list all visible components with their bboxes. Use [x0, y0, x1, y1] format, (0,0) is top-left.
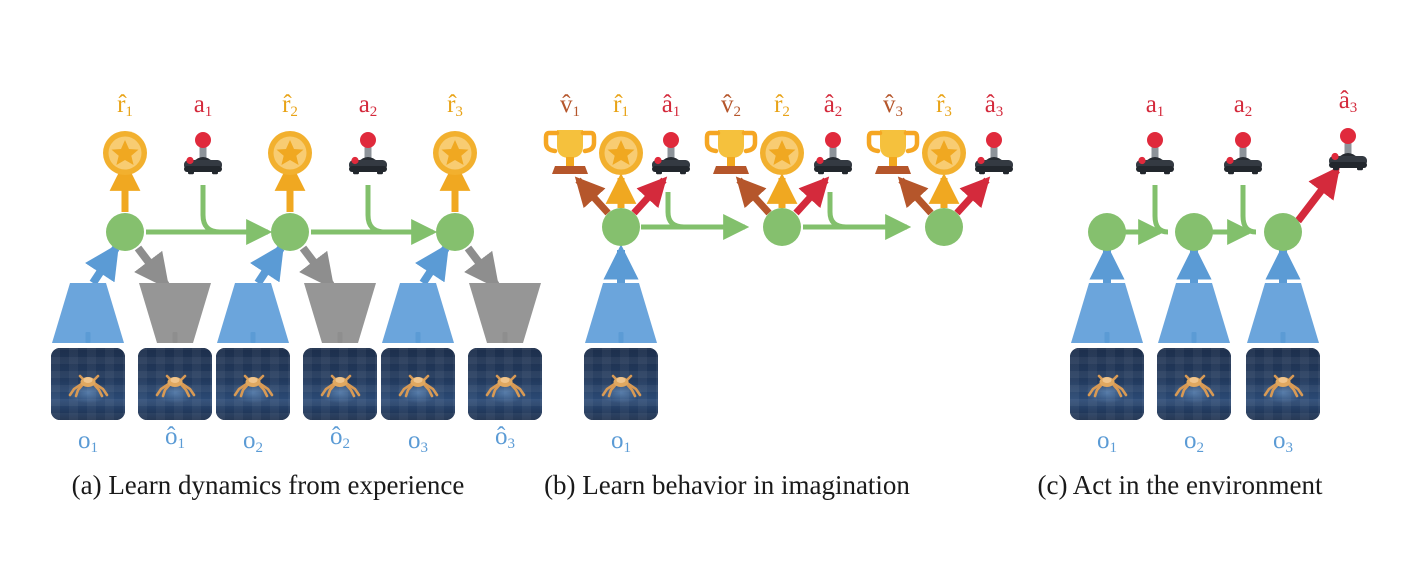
- observation-thumbnail: [1070, 348, 1144, 420]
- observation-label: o3: [1273, 428, 1293, 456]
- joystick-icon: [1320, 126, 1376, 187]
- observation-label: o1: [1097, 428, 1117, 456]
- caption-panel-a: (a) Learn dynamics from experience: [72, 470, 465, 501]
- action-label-3: â3: [1339, 88, 1358, 116]
- joystick-icon: [1215, 130, 1271, 191]
- caption-panel-c: (c) Act in the environment: [1038, 470, 1323, 501]
- figure-root: r̂1 a1 r̂2 a2 r̂3: [0, 0, 1420, 562]
- encoder-connector-tick: [1281, 332, 1286, 343]
- encoder-connector-tick: [1192, 332, 1197, 343]
- observation-thumbnail: [1157, 348, 1231, 420]
- caption-panel-b: (b) Learn behavior in imagination: [544, 470, 910, 501]
- latent-state-circle: [1088, 213, 1126, 251]
- joystick-icon: [1127, 130, 1183, 191]
- action-label-2: a2: [1234, 92, 1253, 120]
- observation-label: o2: [1184, 428, 1204, 456]
- encoder-connector-tick: [1105, 332, 1110, 343]
- latent-state-circle: [1175, 213, 1213, 251]
- observation-thumbnail: [1246, 348, 1320, 420]
- action-label-1: a1: [1146, 92, 1165, 120]
- latent-state-circle: [1264, 213, 1302, 251]
